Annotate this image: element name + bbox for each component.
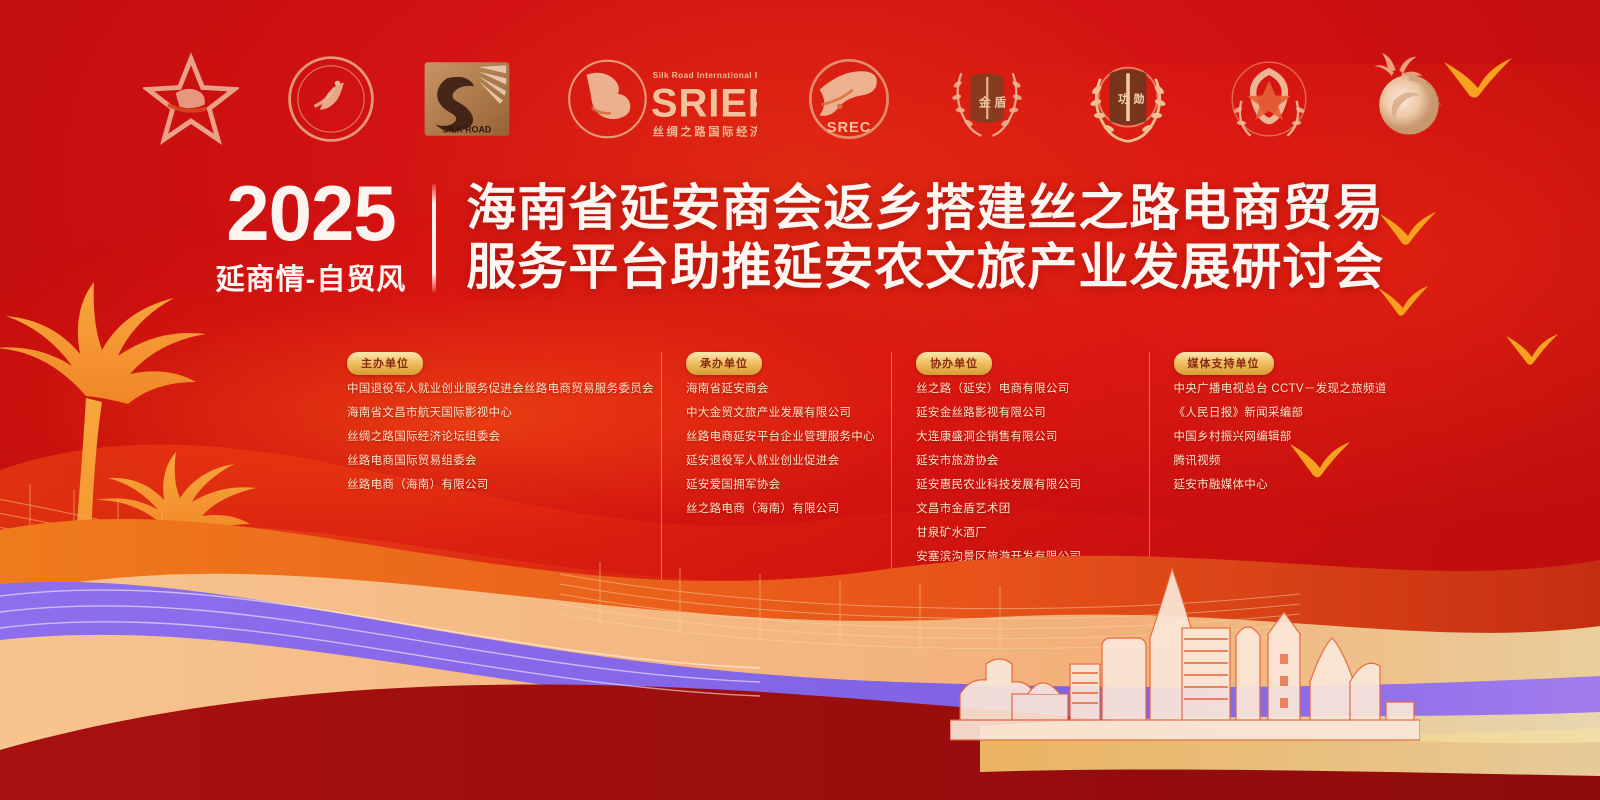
list-item: 甘泉矿水酒厂 [916, 528, 1132, 540]
list-item: 丝路电商延安平台企业管理服务中心 [686, 432, 875, 444]
list-item: 延安退役军人就业创业促进会 [686, 456, 875, 468]
badge-co-organizers: 协办单位 [916, 352, 992, 375]
badge-hosts: 承办单位 [686, 352, 762, 375]
srief-logo: Silk Road International Economic Forum S… [557, 55, 757, 143]
badge-media-support: 媒体支持单位 [1174, 352, 1274, 375]
list-item: 海南省文昌市航天国际影视中心 [347, 408, 645, 420]
title-line-2: 服务平台助推延安农文旅产业发展研讨会 [466, 238, 1384, 297]
svg-text:SREC: SREC [827, 120, 872, 136]
star-outline-logo [143, 51, 239, 147]
list-item: 丝绸之路国际经济论坛组委会 [347, 432, 645, 444]
main-title: 海南省延安商会返乡搭建丝之路电商贸易 服务平台助推延安农文旅产业发展研讨会 [466, 178, 1384, 298]
silk-road-square-logo: SILK ROAD [423, 60, 511, 138]
svg-text:· · · · · · · ·: · · · · · · · · [320, 62, 341, 67]
list-item: 中大金贸文旅产业发展有限公司 [686, 408, 875, 420]
star-wreath-logo: · · · · · · · · · [1223, 53, 1315, 145]
svg-text:功: 功 [1118, 92, 1129, 106]
sponsor-logo-strip: · · · · · · · · · · · · · · SILK ROAD [0, 40, 1600, 158]
list-item: 海南省延安商会 [686, 384, 875, 396]
wheat-wreath-anniversary-logo: 功 勋 [1079, 53, 1177, 145]
column-organizers: 主办单位 中国退役军人就业创业服务促进会丝路电商贸易服务委员会 海南省文昌市航天… [345, 352, 661, 600]
column-hosts: 承办单位 海南省延安商会 中大金贸文旅产业发展有限公司 丝路电商延安平台企业管理… [661, 352, 891, 600]
list-item: 文昌市金盾艺术团 [916, 504, 1132, 516]
year-subtitle: 延商情-自贸风 [216, 256, 407, 298]
list-item: 延安市融媒体中心 [1174, 480, 1400, 492]
list-item: 延安爱国拥军协会 [686, 480, 875, 492]
list-item: 延安市旅游协会 [916, 456, 1132, 468]
svg-text:SRIEF: SRIEF [651, 81, 757, 125]
list-item: 中国乡村振兴网编辑部 [1174, 432, 1400, 444]
organizations-section: 主办单位 中国退役军人就业创业服务促进会丝路电商贸易服务委员会 海南省文昌市航天… [345, 352, 1415, 600]
coconut-film-reel-logo [1361, 51, 1457, 147]
list-item: 丝之路（延安）电商有限公司 [916, 384, 1132, 396]
svg-text:SILK ROAD: SILK ROAD [443, 125, 491, 135]
year-number: 2025 [226, 178, 396, 250]
svg-text:丝绸之路国际经济论坛: 丝绸之路国际经济论坛 [653, 125, 757, 139]
list-item: 中央广播电视总台 CCTV－发现之旅频道 [1174, 384, 1400, 396]
list-item: 延安金丝路影视有限公司 [916, 408, 1132, 420]
list-item: 延安勇土地国际旅行社有限责任公司 [916, 576, 1132, 588]
list-item: 腾讯视频 [1174, 456, 1400, 468]
srec-logo: SREC [803, 53, 895, 145]
list-item: 延安惠民农业科技发展有限公司 [916, 480, 1132, 492]
list-item: 大连康盛洞企销售有限公司 [916, 432, 1132, 444]
wheat-wreath-logo: 金 盾 [941, 53, 1033, 145]
svg-text:勋: 勋 [1133, 92, 1145, 106]
column-media-support: 媒体支持单位 中央广播电视总台 CCTV－发现之旅频道 《人民日报》新闻采编部 … [1149, 352, 1416, 600]
poster-canvas: · · · · · · · · · · · · · · SILK ROAD [0, 0, 1600, 800]
title-block: 2025 延商情-自贸风 海南省延安商会返乡搭建丝之路电商贸易 服务平台助推延安… [0, 178, 1600, 298]
title-divider [432, 184, 436, 292]
year-column: 2025 延商情-自贸风 [216, 178, 433, 298]
svg-text:Silk Road International Econom: Silk Road International Economic Forum [653, 71, 757, 80]
list-item: 丝路电商国际贸易组委会 [347, 456, 645, 468]
title-line-1: 海南省延安商会返乡搭建丝之路电商贸易 [466, 179, 1384, 238]
list-item: 丝路电商（海南）有限公司 [347, 480, 645, 492]
list-item: 安塞滨沟景区旅游开发有限公司 [916, 552, 1132, 564]
list-item: 中国退役军人就业创业服务促进会丝路电商贸易服务委员会 [347, 384, 645, 396]
svg-text:金: 金 [978, 94, 992, 109]
svg-text:盾: 盾 [994, 94, 1006, 109]
list-item: 《人民日报》新闻采编部 [1174, 408, 1400, 420]
svg-text:· · · · · ·: · · · · · · [323, 134, 339, 139]
column-co-organizers: 协办单位 丝之路（延安）电商有限公司 延安金丝路影视有限公司 大连康盛洞企销售有… [891, 352, 1148, 600]
circular-seal-logo: · · · · · · · · · · · · · · [285, 53, 377, 145]
list-item: 丝之路电商（海南）有限公司 [686, 504, 875, 516]
badge-organizers: 主办单位 [347, 352, 423, 375]
